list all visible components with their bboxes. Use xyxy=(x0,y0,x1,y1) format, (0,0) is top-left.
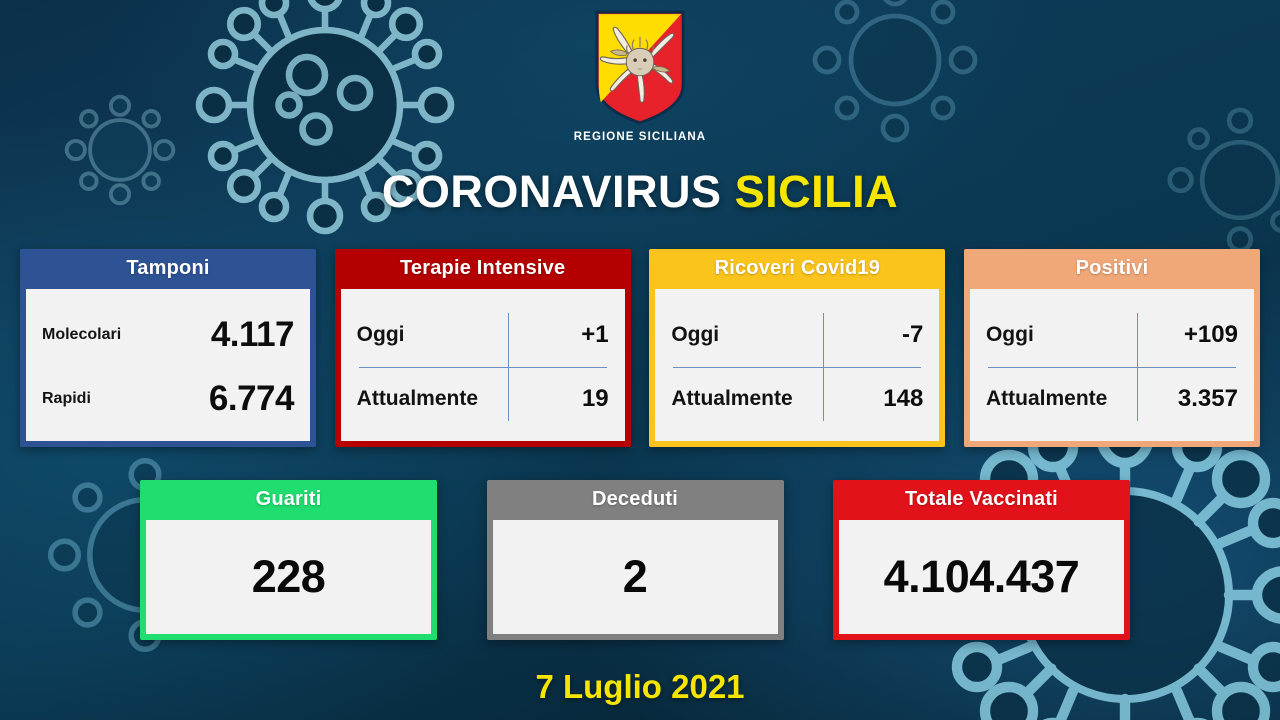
stat-row: Molecolari 4.117 xyxy=(42,303,294,367)
stat-row: Attualmente 19 xyxy=(357,367,609,431)
card-title: Ricoveri Covid19 xyxy=(649,249,945,289)
stat-label: Attualmente xyxy=(357,387,513,411)
stat-label: Rapidi xyxy=(42,390,91,408)
card-value: 228 xyxy=(252,551,326,603)
card-ricoveri-covid19: Ricoveri Covid19 Oggi -7 Attualmente 148 xyxy=(649,249,945,447)
title-main: CORONAVIRUS xyxy=(382,166,722,217)
stat-label: Oggi xyxy=(671,323,827,347)
card-terapie-intensive: Terapie Intensive Oggi +1 Attualmente 19 xyxy=(335,249,631,447)
card-value: 4.104.437 xyxy=(884,551,1080,603)
stats-row-top: Tamponi Molecolari 4.117 Rapidi 6.774 Te… xyxy=(20,249,1260,447)
stat-value: +1 xyxy=(513,321,609,349)
stats-row-bottom: Guariti 228 Deceduti 2 Totale Vaccinati … xyxy=(140,480,1130,640)
stat-label: Molecolari xyxy=(42,326,121,344)
card-title: Totale Vaccinati xyxy=(833,480,1130,520)
stat-table: Oggi +109 Attualmente 3.357 xyxy=(986,303,1238,431)
card-body: 4.104.437 xyxy=(839,520,1124,634)
card-positivi: Positivi Oggi +109 Attualmente 3.357 xyxy=(964,249,1260,447)
stat-table: Oggi +1 Attualmente 19 xyxy=(357,303,609,431)
card-title: Terapie Intensive xyxy=(335,249,631,289)
stat-row: Attualmente 148 xyxy=(671,367,923,431)
stat-value: 3.357 xyxy=(1142,385,1238,413)
report-date: 7 Luglio 2021 xyxy=(0,668,1280,706)
stat-value: 4.117 xyxy=(211,315,294,355)
card-body: 228 xyxy=(146,520,431,634)
stat-label: Oggi xyxy=(986,323,1142,347)
stat-value: 148 xyxy=(827,385,923,413)
stat-label: Attualmente xyxy=(671,387,827,411)
stat-row: Attualmente 3.357 xyxy=(986,367,1238,431)
card-title: Positivi xyxy=(964,249,1260,289)
card-body: 2 xyxy=(493,520,778,634)
card-deceduti: Deceduti 2 xyxy=(487,480,784,640)
stat-table: Oggi -7 Attualmente 148 xyxy=(671,303,923,431)
card-guariti: Guariti 228 xyxy=(140,480,437,640)
stat-row: Oggi +1 xyxy=(357,303,609,367)
sicily-coat-of-arms-icon xyxy=(591,8,689,126)
card-body: Oggi +109 Attualmente 3.357 xyxy=(970,289,1254,441)
stat-value: -7 xyxy=(827,321,923,349)
card-title: Guariti xyxy=(140,480,437,520)
vertical-divider xyxy=(1137,313,1138,421)
regione-siciliana-logo: REGIONE SICILIANA xyxy=(0,8,1280,143)
stat-label: Oggi xyxy=(357,323,513,347)
horizontal-divider xyxy=(359,367,607,368)
card-title: Deceduti xyxy=(487,480,784,520)
stat-value: 19 xyxy=(513,385,609,413)
card-totale-vaccinati: Totale Vaccinati 4.104.437 xyxy=(833,480,1130,640)
stat-row: Oggi -7 xyxy=(671,303,923,367)
title-accent: SICILIA xyxy=(735,166,899,217)
vertical-divider xyxy=(823,313,824,421)
stat-label: Attualmente xyxy=(986,387,1142,411)
stat-value: 6.774 xyxy=(209,379,294,419)
page-title: CORONAVIRUS SICILIA xyxy=(0,166,1280,218)
card-body: Oggi -7 Attualmente 148 xyxy=(655,289,939,441)
card-title: Tamponi xyxy=(20,249,316,289)
vertical-divider xyxy=(508,313,509,421)
stat-row: Oggi +109 xyxy=(986,303,1238,367)
card-body: Molecolari 4.117 Rapidi 6.774 xyxy=(26,289,310,441)
logo-caption: REGIONE SICILIANA xyxy=(574,131,706,143)
stat-value: +109 xyxy=(1142,321,1238,349)
horizontal-divider xyxy=(988,367,1236,368)
card-tamponi: Tamponi Molecolari 4.117 Rapidi 6.774 xyxy=(20,249,316,447)
card-value: 2 xyxy=(623,551,648,603)
stat-row: Rapidi 6.774 xyxy=(42,367,294,431)
horizontal-divider xyxy=(673,367,921,368)
coronavirus-sicilia-infographic: REGIONE SICILIANA CORONAVIRUS SICILIA Ta… xyxy=(0,0,1280,720)
card-body: Oggi +1 Attualmente 19 xyxy=(341,289,625,441)
